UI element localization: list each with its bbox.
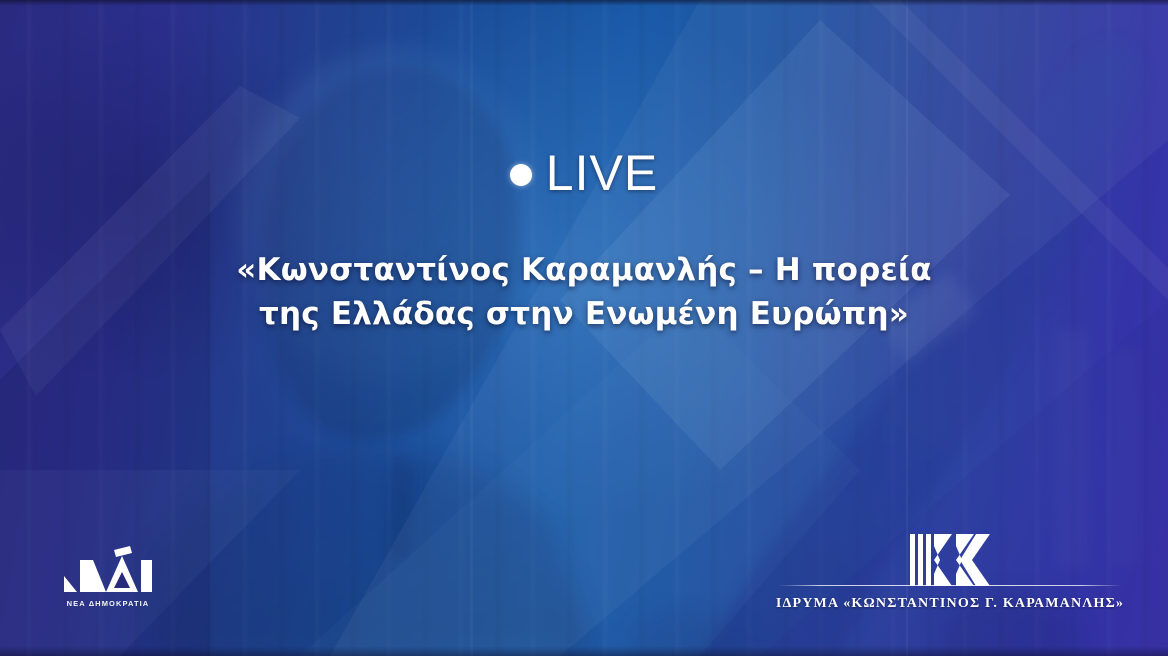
kf-mark-row	[778, 534, 1122, 586]
nd-logo-caption: ΝΕΑ ΔΗΜΟΚΡΑΤΙΑ	[67, 599, 150, 608]
kf-logo-caption: ΙΔΡΥΜΑ «ΚΩΝΣΤΑΝΤΙΝΟΣ Γ. ΚΑΡΑΜΑΝΛΗΣ»	[776, 596, 1124, 612]
nd-monogram-icon	[62, 546, 154, 594]
karamanlis-foundation-logo: ΙΔΡΥΜΑ «ΚΩΝΣΤΑΝΤΙΝΟΣ Γ. ΚΑΡΑΜΑΝΛΗΣ»	[778, 534, 1122, 612]
bottom-edge-vignette	[0, 646, 1168, 656]
event-title: «Κωνσταντίνος Καραμανλής – Η πορεία της …	[0, 248, 1168, 336]
event-title-line-2: της Ελλάδας στην Ενωμένη Ευρώπη»	[150, 292, 1018, 336]
kf-divider-rule	[778, 585, 1122, 586]
live-indicator-dot-icon	[510, 164, 532, 186]
top-edge-vignette	[0, 0, 1168, 6]
live-badge: LIVE	[0, 148, 1168, 198]
kkk-monogram-icon	[908, 534, 992, 586]
live-stream-thumbnail: LIVE «Κωνσταντίνος Καραμανλής – Η πορεία…	[0, 0, 1168, 656]
live-label: LIVE	[546, 148, 658, 198]
event-title-line-1: «Κωνσταντίνος Καραμανλής – Η πορεία	[150, 248, 1018, 292]
nea-dimokratia-logo: ΝΕΑ ΔΗΜΟΚΡΑΤΙΑ	[52, 546, 164, 608]
